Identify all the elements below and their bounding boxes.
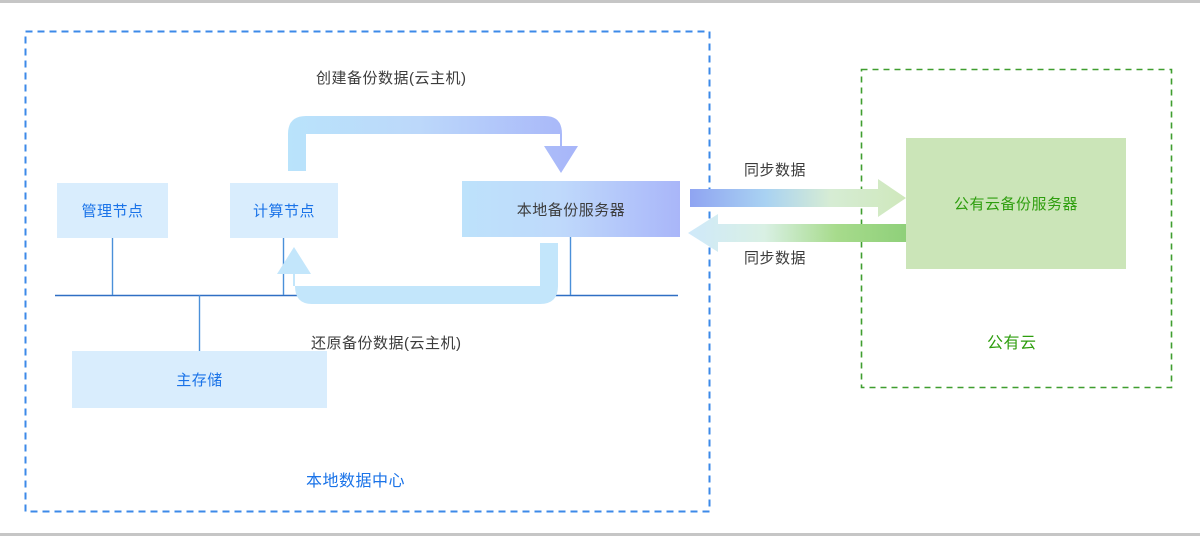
node-public-cloud-backup-server[interactable]: 公有云备份服务器 [906, 138, 1126, 269]
diagram-vector-layer [0, 3, 1200, 536]
node-compute-node-label: 计算节点 [253, 200, 315, 221]
diagram-canvas: 管理节点 计算节点 本地备份服务器 主存储 公有云备份服务器 创建备份数据(云主… [0, 0, 1200, 536]
node-primary-storage[interactable]: 主存储 [72, 351, 327, 408]
flow-label-create-backup: 创建备份数据(云主机) [316, 67, 467, 88]
zone-border-local-datacenter [26, 32, 710, 512]
flow-label-sync-data-in: 同步数据 [744, 247, 806, 268]
flow-arrow-restore-backup [277, 243, 558, 304]
zone-label-local-datacenter: 本地数据中心 [306, 467, 405, 491]
flow-arrow-sync-data-out [690, 179, 906, 217]
node-compute-node[interactable]: 计算节点 [230, 183, 338, 238]
node-management-node-label: 管理节点 [81, 200, 143, 221]
zone-label-public-cloud: 公有云 [987, 329, 1037, 353]
flow-arrow-create-backup [288, 116, 578, 173]
node-local-backup-server-label: 本地备份服务器 [517, 199, 626, 220]
node-management-node[interactable]: 管理节点 [57, 183, 168, 238]
node-local-backup-server[interactable]: 本地备份服务器 [462, 181, 680, 237]
flow-label-restore-backup: 还原备份数据(云主机) [311, 332, 462, 353]
flow-label-sync-data-out: 同步数据 [744, 159, 806, 180]
node-public-cloud-backup-server-label: 公有云备份服务器 [954, 193, 1078, 214]
node-primary-storage-label: 主存储 [176, 369, 223, 390]
